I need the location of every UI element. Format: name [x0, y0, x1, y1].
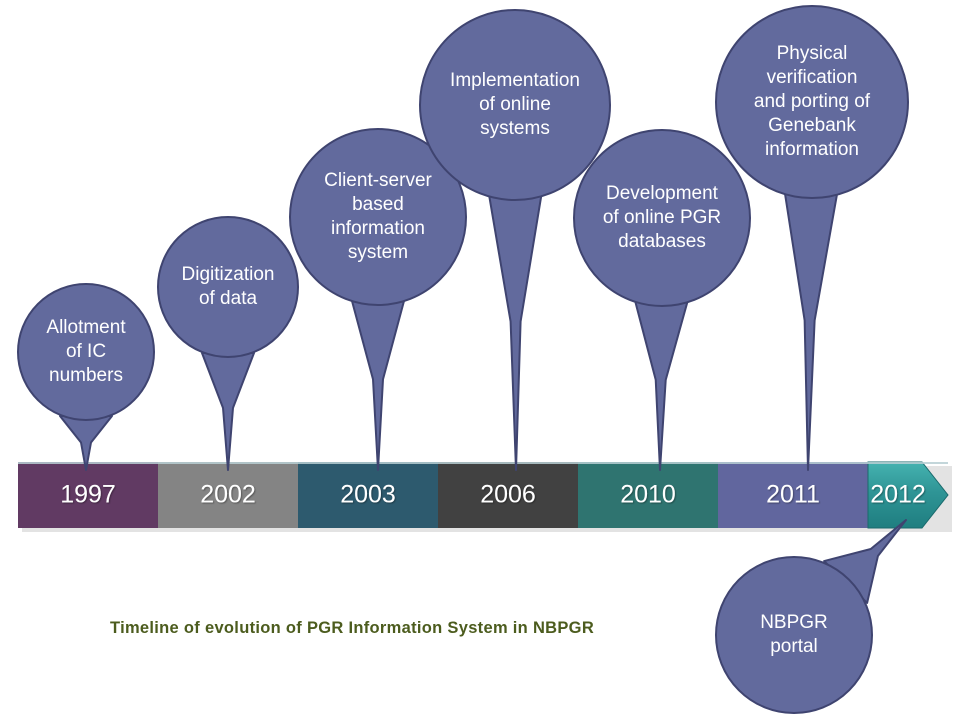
timeline-segment-2010[interactable]: 2010: [578, 462, 718, 528]
callout-2010[interactable]: Developmentof online PGRdatabases: [574, 130, 750, 470]
callout-text-line: system: [348, 242, 408, 263]
callout-text-line: NBPGR: [760, 612, 828, 633]
segment-year-label-2006: 2006: [480, 481, 536, 509]
callout-tail: [352, 301, 404, 470]
callout-text-line: of online PGR: [603, 207, 721, 228]
segment-year-label-2003: 2003: [340, 481, 396, 509]
segment-year-label-2002: 2002: [200, 481, 256, 509]
callout-tail: [202, 353, 254, 470]
callout-2012[interactable]: NBPGRportal: [716, 520, 906, 713]
segment-year-label-2012: 2012: [870, 481, 926, 509]
callout-circle: [158, 217, 298, 357]
callout-text-line: verification: [767, 67, 858, 88]
callout-text-line: Implementation: [450, 70, 580, 91]
callout-tail: [785, 194, 837, 470]
timeline-segment-2002[interactable]: 2002: [158, 462, 298, 528]
callout-text-line: Genebank: [768, 115, 856, 136]
timeline-segment-2003[interactable]: 2003: [298, 462, 438, 528]
timeline-bar: 1997200220032006201020112012: [18, 462, 952, 532]
callout-group: Allotmentof ICnumbersDigitizationof data…: [18, 6, 908, 713]
timeline-diagram: 1997200220032006201020112012 Allotmentof…: [0, 0, 960, 720]
callout-2002[interactable]: Digitizationof data: [158, 217, 298, 470]
callout-text-line: databases: [618, 231, 706, 252]
callout-circle: [716, 557, 872, 713]
callout-text-line: information: [331, 218, 425, 239]
callout-text-line: Physical: [777, 43, 848, 64]
callout-text-line: information: [765, 139, 859, 160]
callout-text-line: and porting of: [754, 91, 871, 112]
segment-year-label-1997: 1997: [60, 481, 116, 509]
callout-tail: [635, 302, 687, 470]
callout-text-line: Digitization: [182, 264, 275, 285]
timeline-segment-2011[interactable]: 2011: [718, 462, 868, 528]
segment-year-label-2011: 2011: [766, 481, 820, 509]
segment-year-label-2010: 2010: [620, 481, 676, 509]
diagram-caption: Timeline of evolution of PGR Information…: [110, 619, 594, 637]
callout-text-line: numbers: [49, 365, 123, 386]
callout-text-line: of online: [479, 94, 551, 115]
callout-text-line: Allotment: [46, 317, 126, 338]
callout-1997[interactable]: Allotmentof ICnumbers: [18, 284, 154, 470]
callout-2003[interactable]: Client-serverbasedinformationsystem: [290, 129, 466, 470]
callout-text-line: based: [352, 194, 404, 215]
callout-tail: [60, 416, 112, 470]
callout-text-line: of data: [199, 288, 258, 309]
callout-text-line: systems: [480, 118, 550, 139]
callout-text-line: Client-server: [324, 170, 432, 191]
callout-text-line: of IC: [66, 341, 106, 362]
callout-text-line: portal: [770, 636, 818, 657]
callout-text-line: Development: [606, 183, 719, 204]
timeline-segment-2006[interactable]: 2006: [438, 462, 578, 528]
timeline-canvas: 1997200220032006201020112012 Allotmentof…: [0, 0, 960, 720]
timeline-segment-1997[interactable]: 1997: [18, 462, 158, 528]
callout-tail: [489, 196, 541, 470]
